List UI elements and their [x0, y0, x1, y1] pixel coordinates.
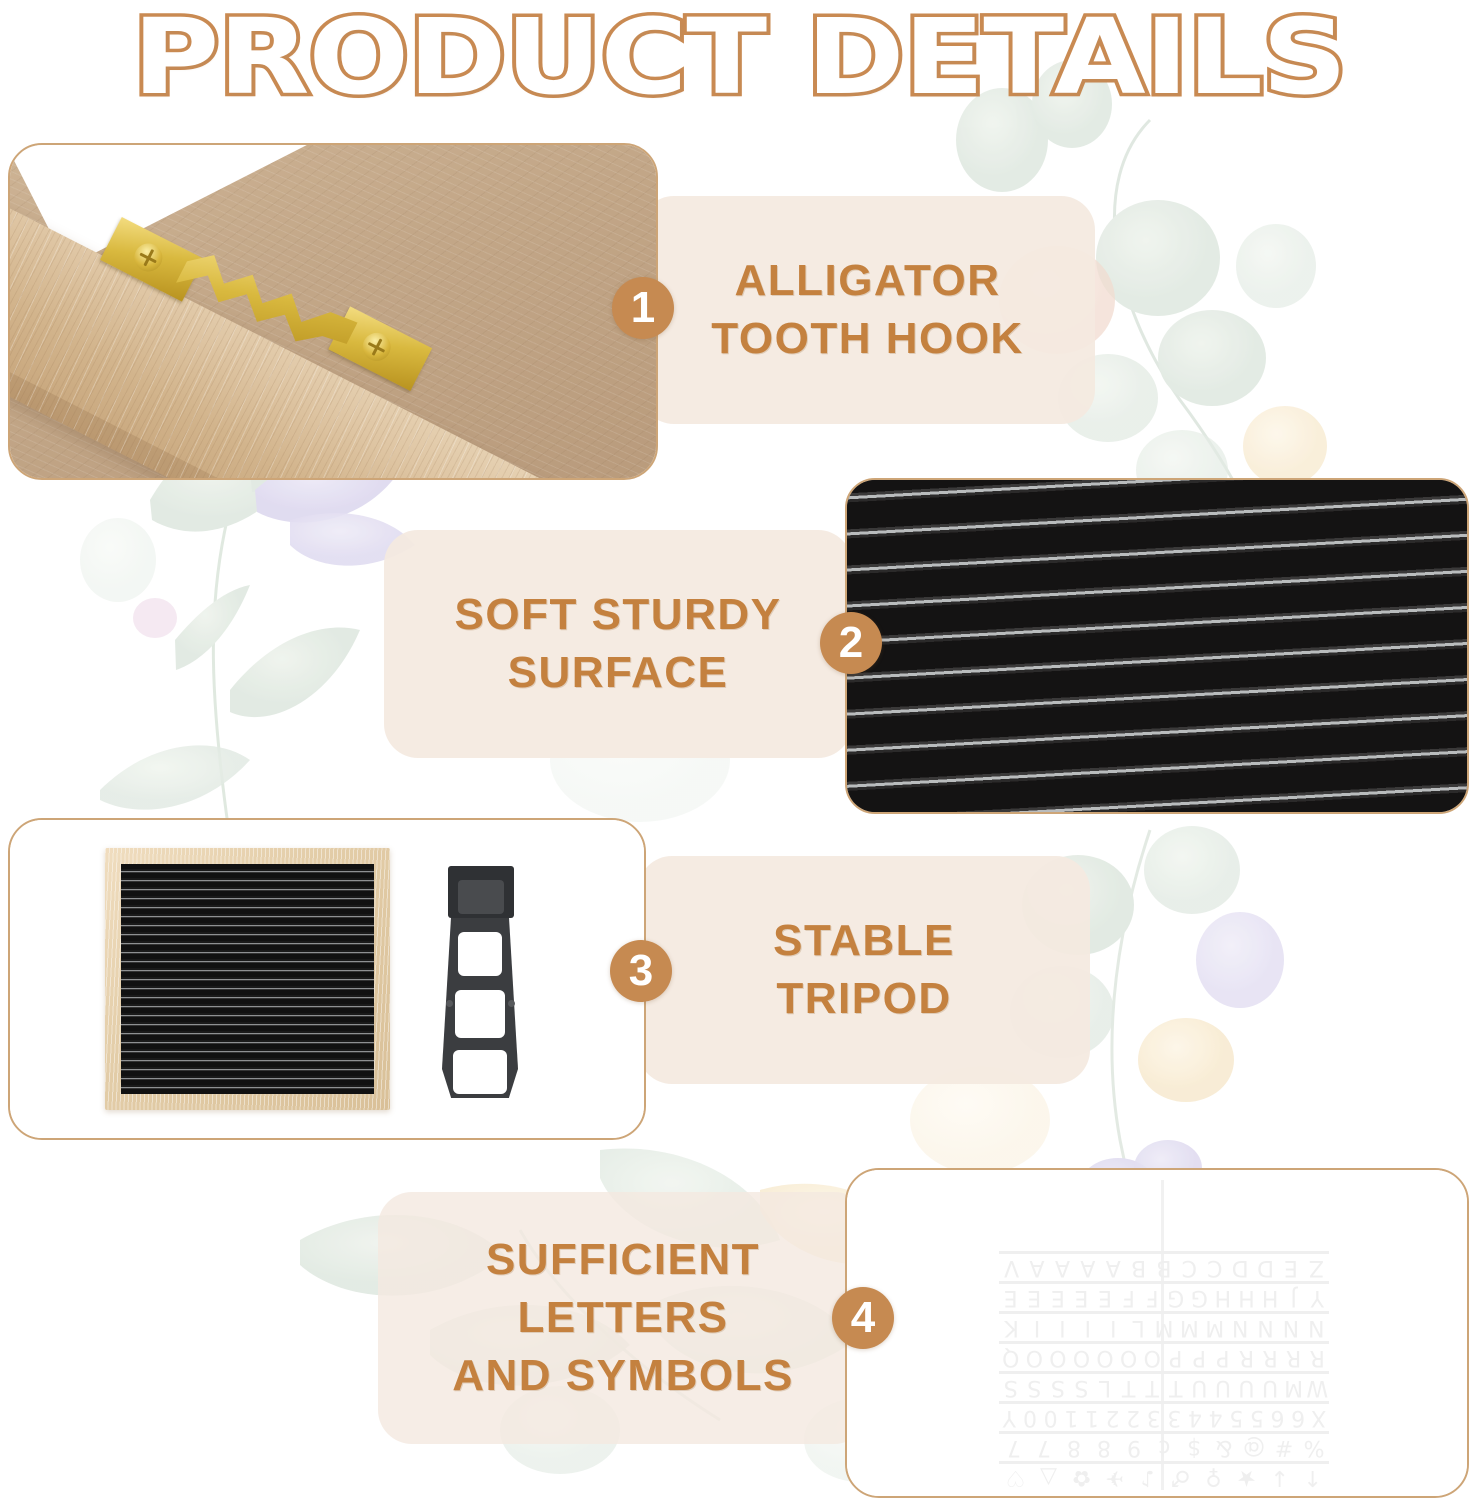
- letter-board-felt: [121, 864, 374, 1094]
- letter-tile: N: [1253, 1314, 1278, 1340]
- letter-tile: 0: [1020, 1404, 1041, 1430]
- letter-tile: O: [1046, 1344, 1070, 1370]
- letter-tile: 3: [1164, 1404, 1185, 1430]
- letter-tile: %: [1299, 1434, 1329, 1460]
- letter-tile: E: [1278, 1254, 1303, 1280]
- feature-1-line-2: TOOTH HOOK: [711, 310, 1023, 368]
- letter-tile: 5: [1226, 1404, 1247, 1430]
- letter-tile: H: [1211, 1284, 1235, 1310]
- feature-panel-1: ALLIGATOR TOOTH HOOK: [640, 196, 1095, 424]
- alligator-tooth-hook-photo: [8, 143, 658, 480]
- page-title-wrap: PRODUCT DETAILS: [0, 2, 1479, 112]
- sprue-rail: [999, 1371, 1329, 1374]
- feature-panel-3: STABLE TRIPOD: [638, 856, 1090, 1084]
- letter-tile: L: [1093, 1374, 1117, 1400]
- letter-tile: X: [1308, 1404, 1329, 1430]
- letter-tile-row: WMUUUUTTTLSSSS: [999, 1370, 1329, 1400]
- letter-tile-row: X66554433221100Y: [999, 1400, 1329, 1430]
- letter-tile-row: YJHHHGGFFEEEEE: [999, 1280, 1329, 1310]
- feature-2-line-1: SOFT STURDY: [455, 586, 782, 644]
- letter-tile: Z: [1304, 1254, 1329, 1280]
- letter-tile: Y: [999, 1404, 1020, 1430]
- letter-tile: S: [999, 1374, 1023, 1400]
- letter-tile: @: [1239, 1434, 1269, 1460]
- letter-tile-row: ZEDDCCBBAAAAV: [999, 1250, 1329, 1280]
- black-felt-grooves: [847, 480, 1467, 812]
- letter-tile: H: [1258, 1284, 1282, 1310]
- sprue-rail: [999, 1341, 1329, 1344]
- feature-panel-4: SUFFICIENT LETTERS AND SYMBOLS: [378, 1192, 868, 1444]
- letter-tile: I: [1075, 1314, 1100, 1340]
- letter-tile: P: [1188, 1344, 1212, 1370]
- sprue-rail: [999, 1251, 1329, 1254]
- letter-tile: N: [1227, 1314, 1252, 1340]
- letter-tile: ♪: [1131, 1464, 1164, 1490]
- letter-tile: △: [1032, 1464, 1065, 1490]
- feature-2-text: SOFT STURDY SURFACE: [455, 586, 782, 702]
- letter-tile-row: RRRRPPPOOOOOOQ: [999, 1340, 1329, 1370]
- letter-tile: ✿: [1065, 1464, 1098, 1490]
- letter-tile: D: [1253, 1254, 1278, 1280]
- letter-tile: C: [1177, 1254, 1202, 1280]
- letter-tile: 5: [1247, 1404, 1268, 1430]
- letter-tile: 8: [1059, 1434, 1089, 1460]
- letter-tile: I: [1050, 1314, 1075, 1340]
- feature-3-text: STABLE TRIPOD: [773, 912, 955, 1028]
- letter-tile: U: [1211, 1374, 1235, 1400]
- letter-tile: U: [1235, 1374, 1259, 1400]
- letter-tile: D: [1227, 1254, 1252, 1280]
- infographic-canvas: PRODUCT DETAILS ALLIGATOR TOOTH HOOK 1 S…: [0, 0, 1479, 1500]
- letter-tile: G: [1188, 1284, 1212, 1310]
- oak-letter-board: [105, 848, 390, 1110]
- letter-tile: 1: [1061, 1404, 1082, 1430]
- letter-tile: O: [1070, 1344, 1094, 1370]
- letter-tile: S: [1022, 1374, 1046, 1400]
- letter-tile: 2: [1102, 1404, 1123, 1430]
- letter-tile: R: [1305, 1344, 1329, 1370]
- letter-tile: I: [1100, 1314, 1125, 1340]
- letter-tile: L: [1126, 1314, 1151, 1340]
- letter-tile: S: [1070, 1374, 1094, 1400]
- letter-tile: A: [1075, 1254, 1100, 1280]
- letter-tile: 4: [1185, 1404, 1206, 1430]
- letter-tile: A: [1024, 1254, 1049, 1280]
- letter-tile: ★: [1230, 1464, 1263, 1490]
- letter-tile: 9: [1119, 1434, 1149, 1460]
- letter-tile: U: [1188, 1374, 1212, 1400]
- letter-tile: K: [999, 1314, 1024, 1340]
- letter-tile: R: [1258, 1344, 1282, 1370]
- letter-tile: C: [1202, 1254, 1227, 1280]
- step-badge-1: 1: [612, 277, 674, 339]
- letter-tile: P: [1211, 1344, 1235, 1370]
- letter-tile: O: [1140, 1344, 1164, 1370]
- letter-tile: J: [1282, 1284, 1306, 1310]
- letter-tile: 1: [1082, 1404, 1103, 1430]
- letter-tile: &: [1209, 1434, 1239, 1460]
- felt-board-surface-photo: [845, 478, 1469, 814]
- letter-tile-row: NNNNMMMLIIIIK: [999, 1310, 1329, 1340]
- letter-tile: N: [1304, 1314, 1329, 1340]
- feature-3-line-2: TRIPOD: [773, 970, 955, 1028]
- letter-tile: A: [1100, 1254, 1125, 1280]
- letter-tile: 8: [1089, 1434, 1119, 1460]
- letter-tile: V: [999, 1254, 1024, 1280]
- letter-tile: $: [1179, 1434, 1209, 1460]
- letter-tile: H: [1235, 1284, 1259, 1310]
- letter-tile: M: [1177, 1314, 1202, 1340]
- letter-tile: F: [1140, 1284, 1164, 1310]
- letter-tile-row: ↑↓★♀♂♪✈✿△♡: [999, 1460, 1329, 1490]
- feature-2-line-2: SURFACE: [455, 644, 782, 702]
- letter-tile: O: [1117, 1344, 1141, 1370]
- letter-tile: 0: [1040, 1404, 1061, 1430]
- letter-tile: U: [1258, 1374, 1282, 1400]
- sprue-rail: [999, 1431, 1329, 1434]
- letter-tile: ↓: [1263, 1464, 1296, 1490]
- letter-tile-sprue-grid: ↑↓★♀♂♪✈✿△♡%#@&$¢98877X66554433221100YWMU…: [999, 1180, 1329, 1490]
- letter-tile: T: [1140, 1374, 1164, 1400]
- letter-tile: Q: [999, 1344, 1023, 1370]
- feature-4-line-2: LETTERS: [452, 1289, 794, 1347]
- letter-tile: T: [1117, 1374, 1141, 1400]
- letter-tile: E: [999, 1284, 1023, 1310]
- letter-tile: 6: [1288, 1404, 1309, 1430]
- sprue-rail: [999, 1311, 1329, 1314]
- feature-panel-2: SOFT STURDY SURFACE: [384, 530, 852, 758]
- feature-4-line-1: SUFFICIENT: [452, 1231, 794, 1289]
- letter-tile: I: [1024, 1314, 1049, 1340]
- letter-tile: E: [1022, 1284, 1046, 1310]
- letter-tile: 7: [999, 1434, 1029, 1460]
- feature-1-text: ALLIGATOR TOOTH HOOK: [711, 252, 1023, 368]
- letter-tile: M: [1202, 1314, 1227, 1340]
- letter-tile: M: [1282, 1374, 1306, 1400]
- sprue-rail: [999, 1401, 1329, 1404]
- letter-tile-row: %#@&$¢98877: [999, 1430, 1329, 1460]
- letter-tile: M: [1151, 1314, 1176, 1340]
- letter-tile: N: [1278, 1314, 1303, 1340]
- feature-4-line-3: AND SYMBOLS: [452, 1347, 794, 1405]
- letter-tile: W: [1305, 1374, 1329, 1400]
- step-badge-4: 4: [832, 1287, 894, 1349]
- tripod-hinge-tab: [458, 880, 504, 914]
- letter-tile: 7: [1029, 1434, 1059, 1460]
- letterboard-and-tripod-photo: [8, 818, 646, 1140]
- feature-4-text: SUFFICIENT LETTERS AND SYMBOLS: [452, 1231, 794, 1405]
- letter-tile: R: [1282, 1344, 1306, 1370]
- feature-3-line-1: STABLE: [773, 912, 955, 970]
- letter-tile: 6: [1267, 1404, 1288, 1430]
- tripod-stand: [434, 860, 526, 1100]
- sprue-rail: [999, 1281, 1329, 1284]
- letter-tile: ✈: [1098, 1464, 1131, 1490]
- letter-tile: 4: [1205, 1404, 1226, 1430]
- letter-tile: ¢: [1149, 1434, 1179, 1460]
- letter-tile: E: [1093, 1284, 1117, 1310]
- letter-tile: G: [1164, 1284, 1188, 1310]
- sprue-rail: [999, 1461, 1329, 1464]
- letter-tile: E: [1070, 1284, 1094, 1310]
- letter-tile: T: [1164, 1374, 1188, 1400]
- letter-tile: F: [1117, 1284, 1141, 1310]
- letter-tile: R: [1235, 1344, 1259, 1370]
- letter-tile: 3: [1143, 1404, 1164, 1430]
- letter-tile: S: [1046, 1374, 1070, 1400]
- letter-tile: O: [1093, 1344, 1117, 1370]
- letter-tiles-photo: ↑↓★♀♂♪✈✿△♡%#@&$¢98877X66554433221100YWMU…: [845, 1168, 1469, 1498]
- letter-tile: B: [1151, 1254, 1176, 1280]
- letter-tile: Y: [1305, 1284, 1329, 1310]
- page-title: PRODUCT DETAILS: [133, 5, 1347, 109]
- letter-tile: #: [1269, 1434, 1299, 1460]
- letter-tile: ♀: [1197, 1464, 1230, 1490]
- letter-tile: ♡: [999, 1464, 1032, 1490]
- step-badge-2: 2: [820, 612, 882, 674]
- letter-tile: ↑: [1296, 1464, 1329, 1490]
- letter-tile: O: [1022, 1344, 1046, 1370]
- feature-1-line-1: ALLIGATOR: [711, 252, 1023, 310]
- letter-tile: B: [1126, 1254, 1151, 1280]
- letter-tile: 2: [1123, 1404, 1144, 1430]
- letter-tile: P: [1164, 1344, 1188, 1370]
- step-badge-3: 3: [610, 940, 672, 1002]
- letter-tile: E: [1046, 1284, 1070, 1310]
- letter-tile: A: [1050, 1254, 1075, 1280]
- letter-tile: ♂: [1164, 1464, 1197, 1490]
